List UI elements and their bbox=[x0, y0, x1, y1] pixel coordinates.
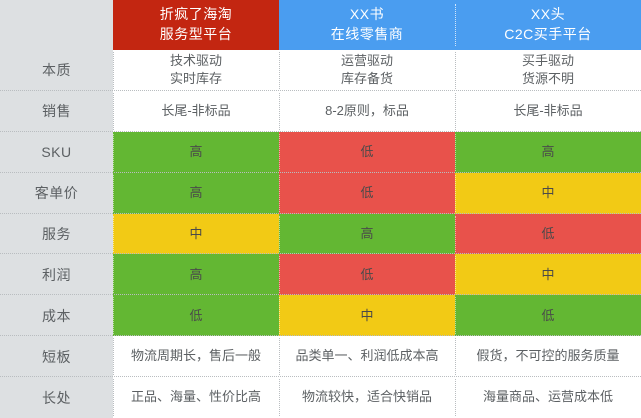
cell-line-1: 买手驱动 bbox=[522, 52, 574, 70]
rating-cell: 中 bbox=[455, 254, 641, 295]
row-label-benzhi: 本质 bbox=[0, 50, 113, 91]
text-cell: 运营驱动库存备货 bbox=[279, 50, 455, 91]
row-label-sku: SKU bbox=[0, 132, 113, 173]
cell-line-1: 低 bbox=[360, 184, 373, 202]
cell-line-1: 长尾-非标品 bbox=[161, 102, 230, 120]
cell-line-1: 技术驱动 bbox=[170, 52, 222, 70]
rating-cell: 高 bbox=[455, 132, 641, 173]
cell-line-1: 海量商品、运营成本低 bbox=[483, 388, 613, 406]
text-cell: 海量商品、运营成本低 bbox=[455, 377, 641, 418]
table-row: SKU高低高 bbox=[0, 132, 641, 173]
table-row: 销售长尾-非标品8-2原则，标品长尾-非标品 bbox=[0, 91, 641, 132]
table-header-row: 折疯了海淘 服务型平台 XX书 在线零售商 XX头 C2C买手平台 bbox=[0, 0, 641, 50]
rating-cell: 高 bbox=[113, 132, 279, 173]
column-header-line1: 折疯了海淘 bbox=[160, 5, 233, 25]
cell-line-1: 假货，不可控的服务质量 bbox=[476, 347, 619, 365]
column-header-xxtou: XX头 C2C买手平台 bbox=[455, 0, 641, 50]
cell-line-1: 低 bbox=[541, 307, 554, 325]
cell-line-1: 中 bbox=[360, 307, 373, 325]
table-row: 短板物流周期长，售后一般品类单一、利润低成本高假货，不可控的服务质量 bbox=[0, 336, 641, 377]
rating-cell: 中 bbox=[113, 214, 279, 255]
table-row: 服务中高低 bbox=[0, 214, 641, 255]
cell-line-1: 高 bbox=[541, 143, 554, 161]
cell-line-2: 实时库存 bbox=[170, 70, 222, 88]
rating-cell: 低 bbox=[113, 295, 279, 336]
cell-line-1: 中 bbox=[541, 184, 554, 202]
cell-line-1: 低 bbox=[189, 307, 202, 325]
cell-line-1: 低 bbox=[360, 266, 373, 284]
text-cell: 买手驱动货源不明 bbox=[455, 50, 641, 91]
rating-cell: 低 bbox=[455, 214, 641, 255]
rating-cell: 低 bbox=[455, 295, 641, 336]
rating-cell: 低 bbox=[279, 173, 455, 214]
cell-line-1: 物流周期长，售后一般 bbox=[131, 347, 261, 365]
table-body: 本质技术驱动实时库存运营驱动库存备货买手驱动货源不明销售长尾-非标品8-2原则，… bbox=[0, 50, 641, 418]
rating-cell: 高 bbox=[113, 173, 279, 214]
row-label-xiaoshou: 销售 bbox=[0, 91, 113, 132]
cell-line-1: 高 bbox=[189, 266, 202, 284]
cell-line-1: 长尾-非标品 bbox=[513, 102, 582, 120]
row-label-chengben: 成本 bbox=[0, 295, 113, 336]
column-header-line1: XX书 bbox=[350, 5, 384, 25]
text-cell: 正品、海量、性价比高 bbox=[113, 377, 279, 418]
cell-line-1: 品类单一、利润低成本高 bbox=[295, 347, 438, 365]
cell-line-1: 中 bbox=[541, 266, 554, 284]
text-cell: 假货，不可控的服务质量 bbox=[455, 336, 641, 377]
table-row: 本质技术驱动实时库存运营驱动库存备货买手驱动货源不明 bbox=[0, 50, 641, 91]
row-label-kedanjia: 客单价 bbox=[0, 173, 113, 214]
comparison-table: 折疯了海淘 服务型平台 XX书 在线零售商 XX头 C2C买手平台 本质技术驱动… bbox=[0, 0, 641, 418]
cell-line-1: 8-2原则，标品 bbox=[325, 102, 409, 120]
rating-cell: 中 bbox=[455, 173, 641, 214]
text-cell: 8-2原则，标品 bbox=[279, 91, 455, 132]
cell-line-1: 高 bbox=[189, 143, 202, 161]
cell-line-1: 物流较快，适合快销品 bbox=[302, 388, 432, 406]
rating-cell: 高 bbox=[113, 254, 279, 295]
table-row: 利润高低中 bbox=[0, 254, 641, 295]
column-header-line2: C2C买手平台 bbox=[504, 25, 592, 45]
cell-line-1: 运营驱动 bbox=[341, 52, 393, 70]
row-label-lirun: 利润 bbox=[0, 254, 113, 295]
text-cell: 品类单一、利润低成本高 bbox=[279, 336, 455, 377]
table-row: 长处正品、海量、性价比高物流较快，适合快销品海量商品、运营成本低 bbox=[0, 377, 641, 418]
column-header-line1: XX头 bbox=[531, 5, 565, 25]
column-header-line2: 服务型平台 bbox=[160, 25, 233, 45]
text-cell: 长尾-非标品 bbox=[113, 91, 279, 132]
row-label-fuwu: 服务 bbox=[0, 214, 113, 255]
cell-line-2: 库存备货 bbox=[341, 70, 393, 88]
rating-cell: 低 bbox=[279, 132, 455, 173]
text-cell: 物流较快，适合快销品 bbox=[279, 377, 455, 418]
rating-cell: 低 bbox=[279, 254, 455, 295]
cell-line-1: 低 bbox=[360, 143, 373, 161]
table-row: 成本低中低 bbox=[0, 295, 641, 336]
cell-line-1: 高 bbox=[189, 184, 202, 202]
cell-line-1: 中 bbox=[189, 225, 202, 243]
cell-line-1: 高 bbox=[360, 225, 373, 243]
cell-line-2: 货源不明 bbox=[522, 70, 574, 88]
rating-cell: 高 bbox=[279, 214, 455, 255]
row-label-duanban: 短板 bbox=[0, 336, 113, 377]
table-row: 客单价高低中 bbox=[0, 173, 641, 214]
column-header-xxshu: XX书 在线零售商 bbox=[279, 0, 455, 50]
column-header-line2: 在线零售商 bbox=[331, 25, 404, 45]
header-corner-cell bbox=[0, 0, 113, 50]
text-cell: 技术驱动实时库存 bbox=[113, 50, 279, 91]
text-cell: 长尾-非标品 bbox=[455, 91, 641, 132]
cell-line-1: 低 bbox=[541, 225, 554, 243]
rating-cell: 中 bbox=[279, 295, 455, 336]
row-label-changchu: 长处 bbox=[0, 377, 113, 418]
text-cell: 物流周期长，售后一般 bbox=[113, 336, 279, 377]
column-header-zhefengle: 折疯了海淘 服务型平台 bbox=[113, 0, 279, 50]
cell-line-1: 正品、海量、性价比高 bbox=[131, 388, 261, 406]
